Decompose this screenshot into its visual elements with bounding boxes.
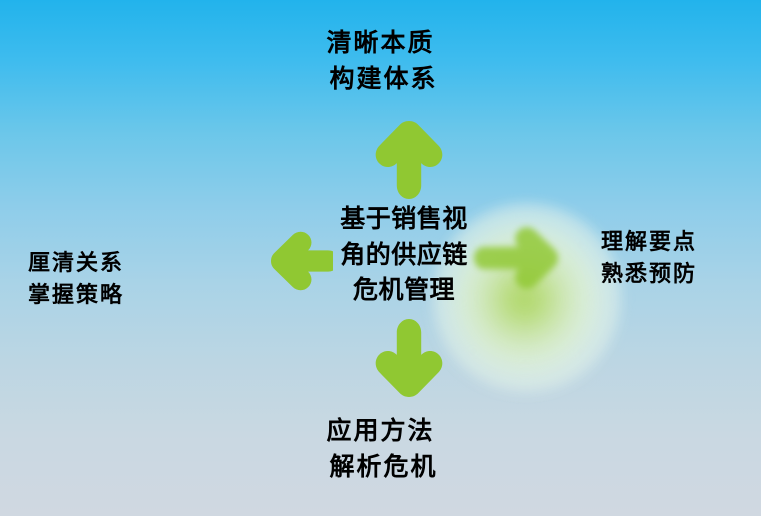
slide-canvas: 基于销售视 角的供应链 危机管理 清晰本质 构建体系 应用方法 解析危机 厘清关…	[0, 0, 761, 516]
callout-bottom-line-2: 解析危机	[0, 450, 761, 486]
callout-right: 理解要点 熟悉预防	[601, 226, 697, 290]
callout-right-line-2: 熟悉预防	[601, 258, 697, 290]
callout-top-line-1: 清晰本质	[0, 26, 761, 62]
center-title-line-1: 基于销售视	[318, 202, 490, 238]
callout-right-line-1: 理解要点	[601, 226, 697, 258]
arrow-up-icon	[374, 119, 444, 201]
callout-top: 清晰本质 构建体系	[0, 26, 761, 99]
center-title-line-2: 角的供应链	[318, 238, 490, 274]
callout-left: 厘清关系 掌握策略	[28, 247, 124, 311]
callout-bottom: 应用方法 解析危机	[0, 414, 761, 487]
callout-top-line-2: 构建体系	[0, 62, 761, 98]
callout-left-line-2: 掌握策略	[28, 279, 124, 311]
arrow-down-icon	[374, 315, 444, 399]
callout-left-line-1: 厘清关系	[28, 247, 124, 279]
center-title-line-3: 危机管理	[318, 273, 490, 309]
callout-bottom-line-1: 应用方法	[0, 414, 761, 450]
center-title: 基于销售视 角的供应链 危机管理	[318, 202, 490, 309]
